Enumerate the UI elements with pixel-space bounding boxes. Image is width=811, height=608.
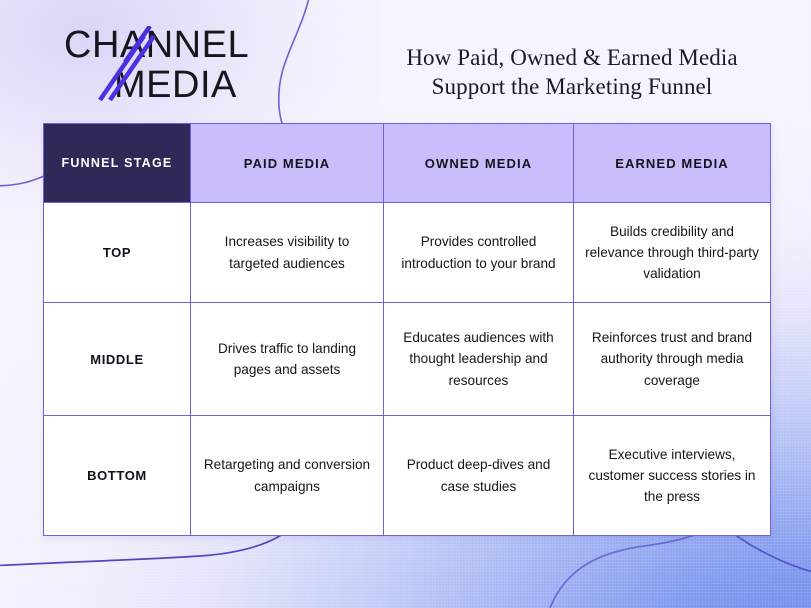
cell-top-owned: Provides controlled introduction to your… xyxy=(384,203,574,303)
column-header-funnel-stage: FUNNEL STAGE xyxy=(44,124,191,203)
table-body: TOP Increases visibility to targeted aud… xyxy=(44,203,771,536)
slide-canvas: CHANNEL MEDIA How Paid, Owned & Earned M… xyxy=(0,0,811,608)
funnel-media-table: FUNNEL STAGE PAID MEDIA OWNED MEDIA EARN… xyxy=(43,123,771,536)
funnel-table-container: FUNNEL STAGE PAID MEDIA OWNED MEDIA EARN… xyxy=(43,123,770,535)
column-header-paid-media: PAID MEDIA xyxy=(191,124,384,203)
table-row: BOTTOM Retargeting and conversion campai… xyxy=(44,416,771,536)
slide-header: CHANNEL MEDIA How Paid, Owned & Earned M… xyxy=(0,0,811,124)
cell-middle-owned: Educates audiences with thought leadersh… xyxy=(384,303,574,416)
table-row: MIDDLE Drives traffic to landing pages a… xyxy=(44,303,771,416)
cell-stage-bottom: BOTTOM xyxy=(44,416,191,536)
cell-bottom-owned: Product deep-dives and case studies xyxy=(384,416,574,536)
cell-bottom-earned: Executive interviews, customer success s… xyxy=(574,416,771,536)
cell-bottom-paid: Retargeting and conversion campaigns xyxy=(191,416,384,536)
page-title-line-2: Support the Marketing Funnel xyxy=(372,73,772,102)
cell-middle-earned: Reinforces trust and brand authority thr… xyxy=(574,303,771,416)
cell-stage-top: TOP xyxy=(44,203,191,303)
cell-middle-paid: Drives traffic to landing pages and asse… xyxy=(191,303,384,416)
logo-slash-mark-icon xyxy=(62,26,332,108)
cell-stage-middle: MIDDLE xyxy=(44,303,191,416)
cell-top-earned: Builds credibility and relevance through… xyxy=(574,203,771,303)
logo: CHANNEL MEDIA xyxy=(62,26,332,106)
table-row: TOP Increases visibility to targeted aud… xyxy=(44,203,771,303)
table-header: FUNNEL STAGE PAID MEDIA OWNED MEDIA EARN… xyxy=(44,124,771,203)
page-title-line-1: How Paid, Owned & Earned Media xyxy=(372,44,772,73)
column-header-earned-media: EARNED MEDIA xyxy=(574,124,771,203)
cell-top-paid: Increases visibility to targeted audienc… xyxy=(191,203,384,303)
page-title: How Paid, Owned & Earned Media Support t… xyxy=(372,44,772,102)
table-header-row: FUNNEL STAGE PAID MEDIA OWNED MEDIA EARN… xyxy=(44,124,771,203)
column-header-owned-media: OWNED MEDIA xyxy=(384,124,574,203)
